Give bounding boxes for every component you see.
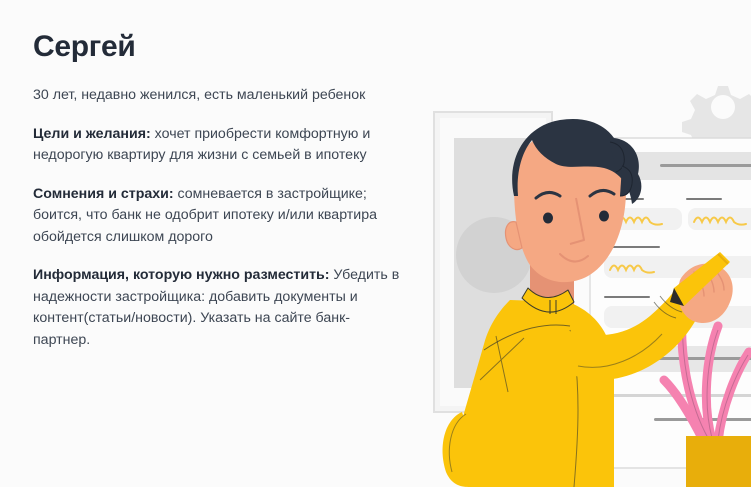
persona-summary: 30 лет, недавно женился, есть маленький …: [33, 85, 405, 107]
text-column: Сергей 30 лет, недавно женился, есть мал…: [33, 30, 418, 351]
form-field-title-line: [660, 164, 751, 167]
section-lead-fears: Сомнения и страхи:: [33, 186, 174, 202]
form-label-2: [686, 198, 722, 200]
persona-section-goals: Цели и желания: хочет приобрести комфорт…: [33, 124, 405, 167]
plant-pot: [686, 436, 751, 487]
section-lead-goals: Цели и желания:: [33, 126, 151, 142]
section-lead-info: Информация, которую нужно разместить:: [33, 267, 329, 283]
person-eye-left: [543, 213, 553, 224]
persona-section-fears: Сомнения и страхи: сомневается в застрой…: [33, 184, 405, 249]
illustration: [418, 0, 751, 487]
persona-section-info: Информация, которую нужно разместить: Уб…: [33, 265, 405, 351]
slide-root: Сергей 30 лет, недавно женился, есть мал…: [0, 0, 751, 487]
page-title: Сергей: [33, 30, 418, 63]
form-input-5-line: [658, 357, 751, 360]
form-input-3: [604, 256, 751, 278]
person-eye-right: [599, 211, 609, 222]
form-label-4: [604, 296, 650, 298]
